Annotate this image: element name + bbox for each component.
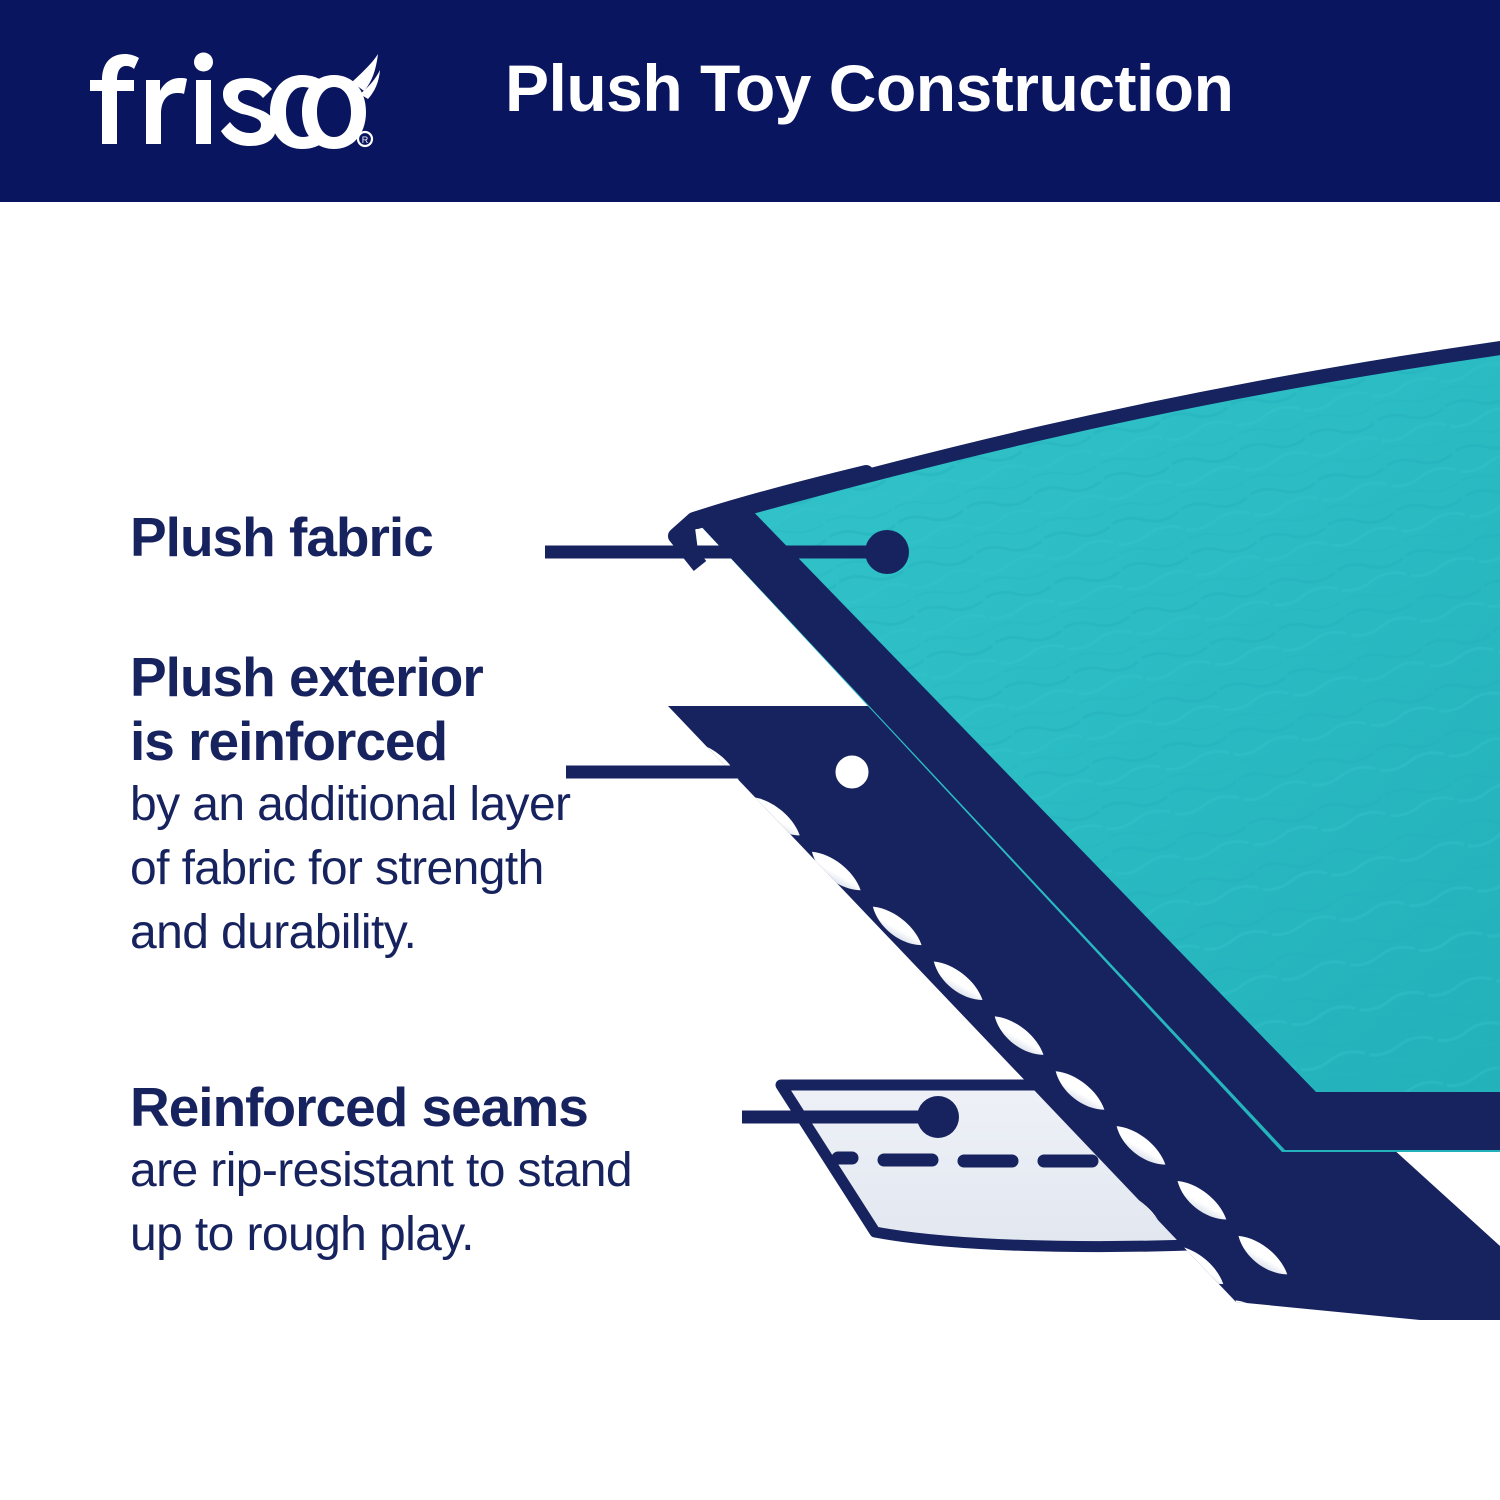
callout-body-line: are rip-resistant to stand bbox=[130, 1139, 632, 1203]
reinforcement-mesh-layer bbox=[484, 706, 1500, 1500]
callout-reinforced-seams: Reinforced seams are rip-resistant to st… bbox=[130, 1075, 632, 1267]
plush-fabric-panel bbox=[676, 340, 1500, 1160]
callout-dot-plush-exterior bbox=[831, 751, 873, 793]
callout-body-line: and durability. bbox=[130, 901, 570, 965]
callout-leader-lines bbox=[545, 552, 938, 1117]
svg-text:R: R bbox=[362, 135, 369, 145]
stitch-dashes bbox=[838, 1158, 1092, 1161]
callout-heading-line: Reinforced seams bbox=[130, 1075, 632, 1139]
reinforced-seam-flap bbox=[781, 1085, 1395, 1247]
callout-body-line: by an additional layer bbox=[130, 773, 570, 837]
callout-body-line: up to rough play. bbox=[130, 1203, 632, 1267]
callout-dot-plush-fabric bbox=[865, 530, 909, 574]
callout-heading-line: is reinforced bbox=[130, 709, 570, 773]
infographic-page: R Plush Toy Construction bbox=[0, 0, 1500, 1500]
callout-heading-line: Plush exterior bbox=[130, 645, 570, 709]
callout-heading-line: Plush fabric bbox=[130, 505, 433, 569]
callout-plush-fabric: Plush fabric bbox=[130, 505, 433, 569]
page-header: R Plush Toy Construction bbox=[0, 0, 1500, 202]
frisco-logo: R bbox=[84, 48, 384, 153]
callout-body-line: of fabric for strength bbox=[130, 837, 570, 901]
registered-mark: R bbox=[358, 132, 372, 146]
page-title: Plush Toy Construction bbox=[505, 50, 1233, 126]
callout-dot-reinforced-seams bbox=[917, 1096, 959, 1138]
callout-plush-exterior: Plush exterior is reinforced by an addit… bbox=[130, 645, 570, 965]
plush-fiber-texture bbox=[690, 340, 1500, 1160]
